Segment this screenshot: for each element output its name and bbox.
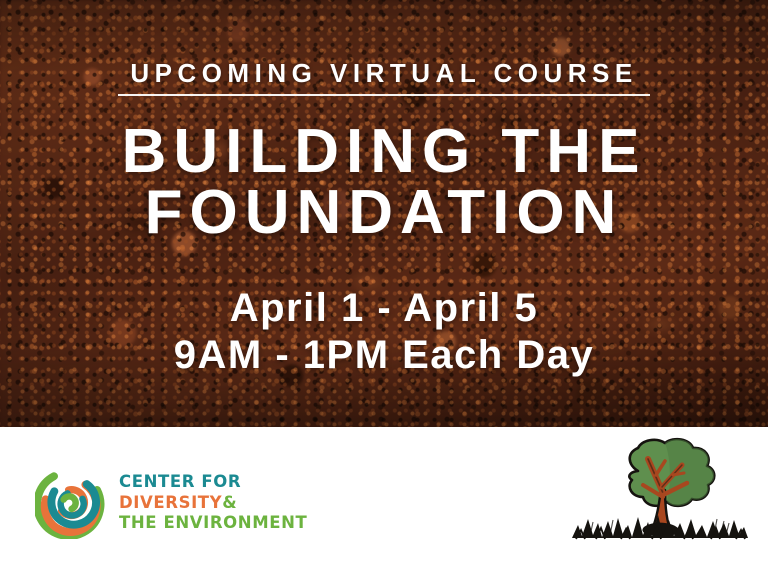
- logo-line-2: DIVERSITY&: [119, 493, 307, 514]
- tree-with-grass-illustration: [566, 435, 751, 555]
- poster-text-block: UPCOMING VIRTUAL COURSE BUILDING THE FOU…: [0, 0, 768, 427]
- date-range-text: April 1 - April 5: [0, 285, 768, 332]
- title-line-1: BUILDING THE: [0, 122, 768, 183]
- kicker-underline: [118, 94, 650, 96]
- kicker-text: UPCOMING VIRTUAL COURSE: [0, 58, 768, 89]
- organization-logo: CENTER FOR DIVERSITY& THE ENVIRONMENT: [35, 467, 307, 539]
- footer-band: CENTER FOR DIVERSITY& THE ENVIRONMENT: [0, 427, 768, 569]
- organization-name: CENTER FOR DIVERSITY& THE ENVIRONMENT: [119, 472, 307, 534]
- logo-line-1: CENTER FOR: [119, 472, 307, 493]
- schedule-details: April 1 - April 5 9AM - 1PM Each Day: [0, 285, 768, 379]
- time-range-text: 9AM - 1PM Each Day: [0, 332, 768, 379]
- spiral-logo-icon: [35, 467, 107, 539]
- logo-ampersand: &: [222, 493, 237, 512]
- title-line-2: FOUNDATION: [0, 183, 768, 244]
- soil-background-photo: UPCOMING VIRTUAL COURSE BUILDING THE FOU…: [0, 0, 768, 427]
- page-title: BUILDING THE FOUNDATION: [0, 122, 768, 244]
- course-announcement-poster: UPCOMING VIRTUAL COURSE BUILDING THE FOU…: [0, 0, 768, 569]
- logo-line-3: THE ENVIRONMENT: [119, 513, 307, 534]
- logo-line-2-text: DIVERSITY: [119, 493, 222, 512]
